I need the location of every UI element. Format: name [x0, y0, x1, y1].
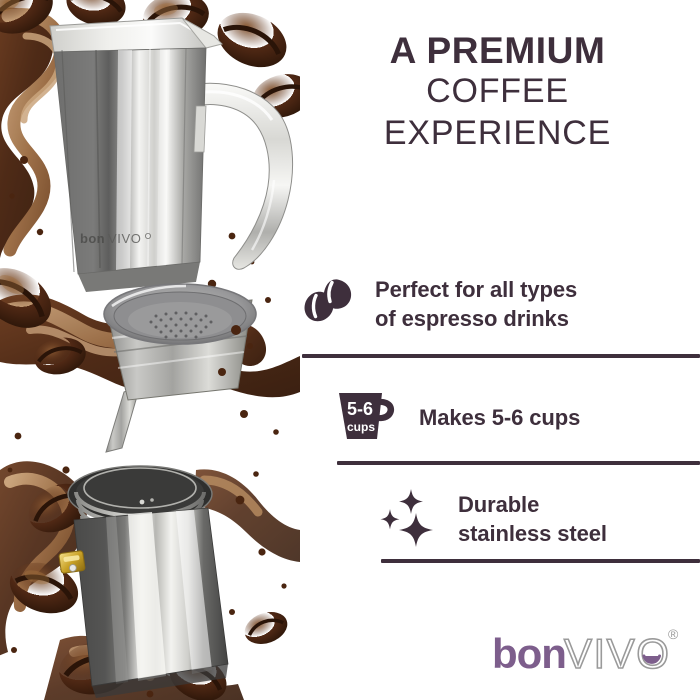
svg-text:VIVO: VIVO [108, 231, 141, 246]
cup-icon-count: 5-6 [347, 399, 373, 419]
cup-icon-label: cups [347, 420, 375, 434]
brand-logo: bon VIVO ® [492, 622, 688, 689]
feature-3-text: Durable stainless steel [458, 491, 607, 547]
feature-3-line-2: stainless steel [458, 520, 607, 548]
feature-1-line-2: of espresso drinks [375, 305, 577, 333]
safety-valve [59, 550, 86, 573]
feature-1-text: Perfect for all types of espresso drinks [375, 276, 577, 332]
feature-3-line-1: Durable [458, 491, 607, 519]
feature-item-espresso-types: Perfect for all types of espresso drinks [302, 276, 577, 333]
product-brand-engraving: bon VIVO [80, 231, 151, 246]
feature-divider-3 [381, 559, 700, 563]
headline-line-1: A PREMIUM [300, 30, 695, 71]
feature-1-line-1: Perfect for all types [375, 276, 577, 304]
feature-2-line-1: Makes 5-6 cups [419, 404, 580, 432]
brand-name-light: VIVO [564, 630, 670, 677]
product-image: bon VIVO [0, 0, 300, 700]
svg-text:bon: bon [80, 231, 105, 246]
coffee-beans-icon [302, 276, 358, 333]
feature-divider-2 [337, 461, 700, 465]
feature-2-text: Makes 5-6 cups [419, 404, 580, 432]
brand-name-bold: bon [492, 630, 566, 677]
page-title: A PREMIUM COFFEE EXPERIENCE [300, 30, 695, 154]
headline-line-2: COFFEE [300, 71, 695, 112]
product-marketing-image: bon VIVO [0, 0, 700, 700]
feature-divider-1 [302, 354, 700, 358]
marketing-copy-panel: A PREMIUM COFFEE EXPERIENCE Perfect for … [300, 0, 700, 700]
cup-count-icon: 5-6 cups [335, 389, 397, 448]
sparkle-icon [378, 487, 438, 552]
headline-line-3: EXPERIENCE [300, 113, 695, 154]
feature-item-durability: Durable stainless steel [378, 487, 607, 552]
feature-item-cup-count: 5-6 cups Makes 5-6 cups [335, 389, 580, 448]
brand-smile-icon [644, 656, 660, 662]
brand-trademark: ® [668, 626, 679, 642]
